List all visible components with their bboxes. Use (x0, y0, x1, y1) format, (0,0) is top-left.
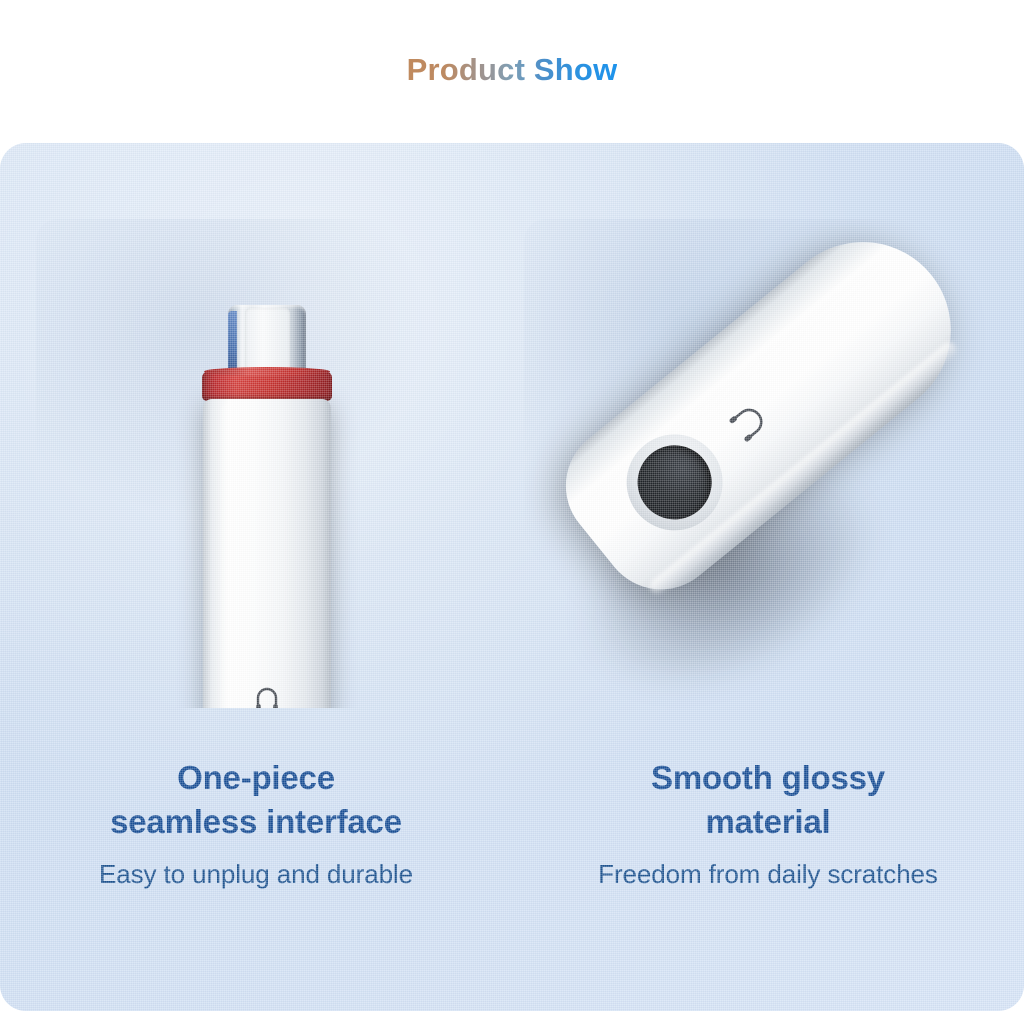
page-title: Product Show (407, 52, 618, 88)
body-gloss-left (219, 403, 241, 708)
caption-block-left: One-piece seamless interface Easy to unp… (0, 756, 512, 891)
adapter-body-left (203, 399, 331, 708)
caption-heading-left-line2: seamless interface (18, 800, 494, 844)
collar-highlight (204, 367, 330, 376)
headphone-icon (726, 400, 771, 445)
caption-heading-right-line2: material (530, 800, 1006, 844)
caption-row: One-piece seamless interface Easy to unp… (0, 756, 1024, 891)
caption-heading-left: One-piece seamless interface (18, 756, 494, 844)
caption-subtitle-right: Freedom from daily scratches (530, 858, 1006, 891)
product-showcase-canvas: One-piece seamless interface Easy to unp… (0, 143, 1024, 1011)
page-header: Product Show (0, 0, 1024, 140)
caption-heading-right-line1: Smooth glossy (530, 756, 1006, 800)
connector-inner-plate (245, 308, 290, 374)
caption-heading-left-line1: One-piece (18, 756, 494, 800)
caption-subtitle-left: Easy to unplug and durable (18, 858, 494, 891)
product-photo-panel-left (36, 219, 498, 708)
adapter-stage-right (524, 219, 986, 708)
product-photo-panel-right (524, 219, 986, 708)
red-collar-band (202, 371, 332, 401)
caption-heading-right: Smooth glossy material (530, 756, 1006, 844)
caption-block-right: Smooth glossy material Freedom from dail… (512, 756, 1024, 891)
connector-blue-edge (228, 311, 237, 373)
headphone-icon (254, 685, 280, 708)
